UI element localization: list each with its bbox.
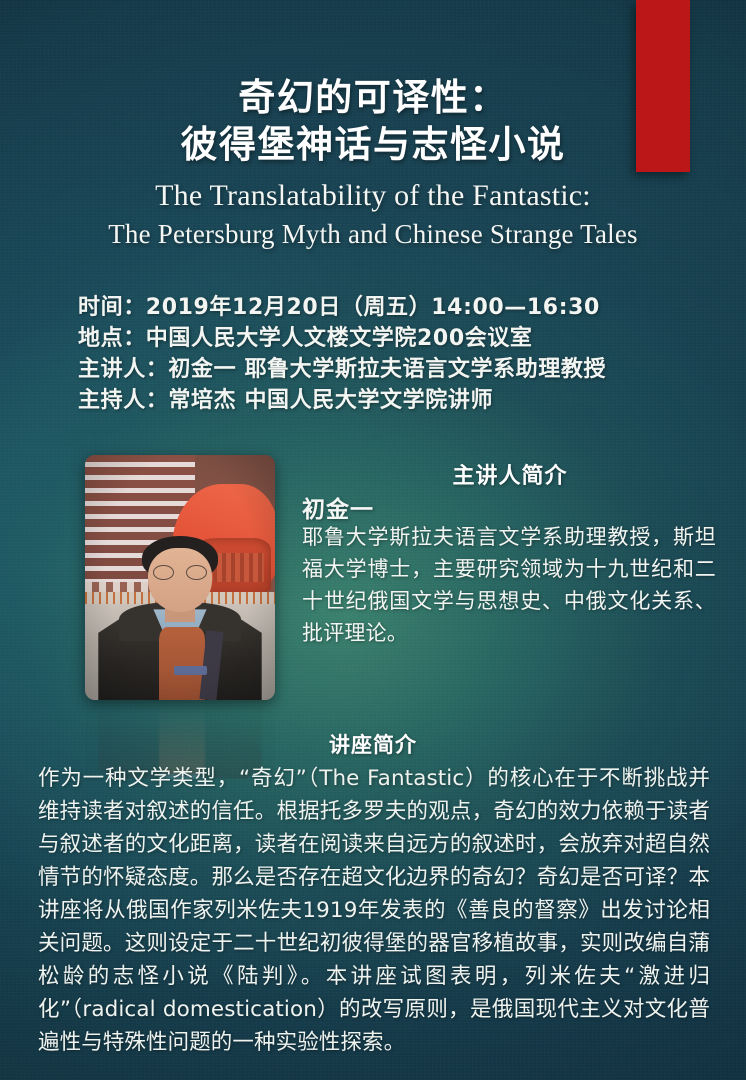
info-place: 地点：中国人民大学人文楼文学院200会议室 xyxy=(78,323,606,354)
lecture-poster: 奇幻的可译性： 彼得堡神话与志怪小说 The Translatability o… xyxy=(0,0,746,1080)
speaker-photo xyxy=(85,455,275,700)
abstract-body-text: 作为一种文学类型，“奇幻”（The Fantastic）的核心在于不断挑战并维持… xyxy=(38,762,710,1059)
title-chinese-line1: 奇幻的可译性： xyxy=(0,74,746,121)
bio-heading: 主讲人简介 xyxy=(300,458,720,490)
title-english-line2: The Petersburg Myth and Chinese Strange … xyxy=(0,216,746,252)
info-speaker: 主讲人：初金一 耶鲁大学斯拉夫语言文学系助理教授 xyxy=(78,354,606,385)
bio-speaker-name: 初金一 xyxy=(302,490,374,524)
info-host: 主持人：常培杰 中国人民大学文学院讲师 xyxy=(78,385,606,416)
speaker-photo-image xyxy=(85,455,275,700)
abstract-heading: 讲座简介 xyxy=(0,729,746,759)
title-block: 奇幻的可译性： 彼得堡神话与志怪小说 The Translatability o… xyxy=(0,74,746,252)
bio-body-text: 耶鲁大学斯拉夫语言文学系助理教授，斯坦福大学博士，主要研究领域为十九世纪和二十世… xyxy=(302,521,716,649)
title-english-line1: The Translatability of the Fantastic: xyxy=(0,176,746,216)
title-chinese-line2: 彼得堡神话与志怪小说 xyxy=(0,121,746,168)
event-info-block: 时间：2019年12月20日（周五）14:00—16:30 地点：中国人民大学人… xyxy=(78,292,606,416)
info-time: 时间：2019年12月20日（周五）14:00—16:30 xyxy=(78,292,606,323)
